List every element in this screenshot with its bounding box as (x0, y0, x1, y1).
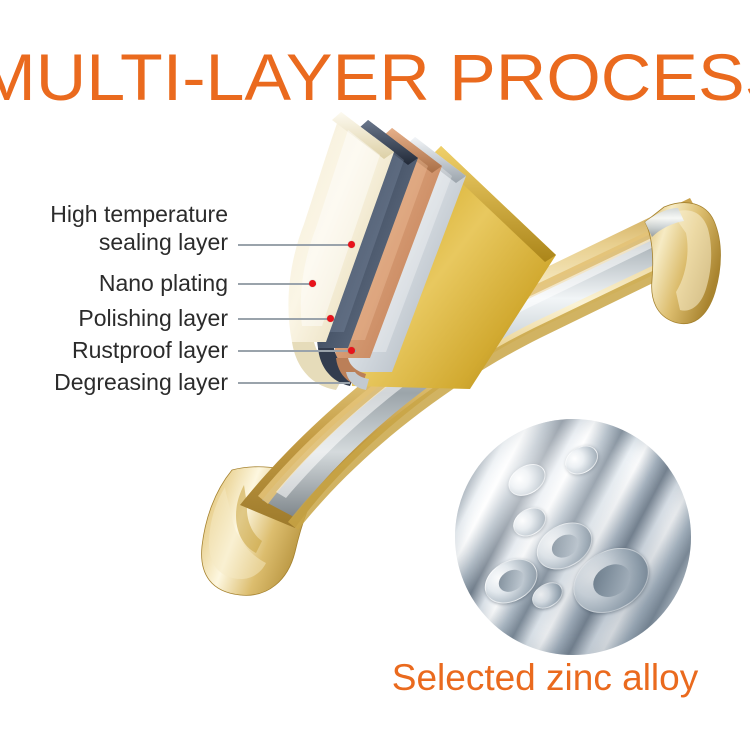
alloy-caption: Selected zinc alloy (370, 656, 720, 700)
callout-labels: High temperature sealing layer Nano plat… (0, 0, 290, 420)
coating-layer-cutaway (288, 112, 556, 390)
leader-dot-2 (309, 280, 316, 287)
handle-right-leg (645, 203, 721, 324)
alloy-photo-sheen (455, 419, 691, 655)
layer-degreasing (352, 146, 556, 389)
leader-dot-4 (348, 347, 355, 354)
callout-label-high-temperature-sealing-layer: High temperature sealing layer (0, 200, 228, 256)
leader-dot-1 (348, 241, 355, 248)
layer-rustproof (344, 137, 466, 372)
callout-label-degreasing-layer: Degreasing layer (54, 368, 228, 396)
callout-label-nano-plating: Nano plating (99, 269, 228, 297)
infographic-root: MULTI-LAYER PROCESS (0, 0, 750, 750)
zinc-alloy-photo (455, 419, 691, 655)
layer-high-temperature-sealing (288, 112, 394, 342)
layer-nano-plating (316, 120, 418, 348)
callout-label-polishing-layer: Polishing layer (78, 304, 228, 332)
callout-label-rustproof-layer: Rustproof layer (72, 336, 228, 364)
leader-dot-3 (327, 315, 334, 322)
handle-left-leg (202, 467, 322, 596)
